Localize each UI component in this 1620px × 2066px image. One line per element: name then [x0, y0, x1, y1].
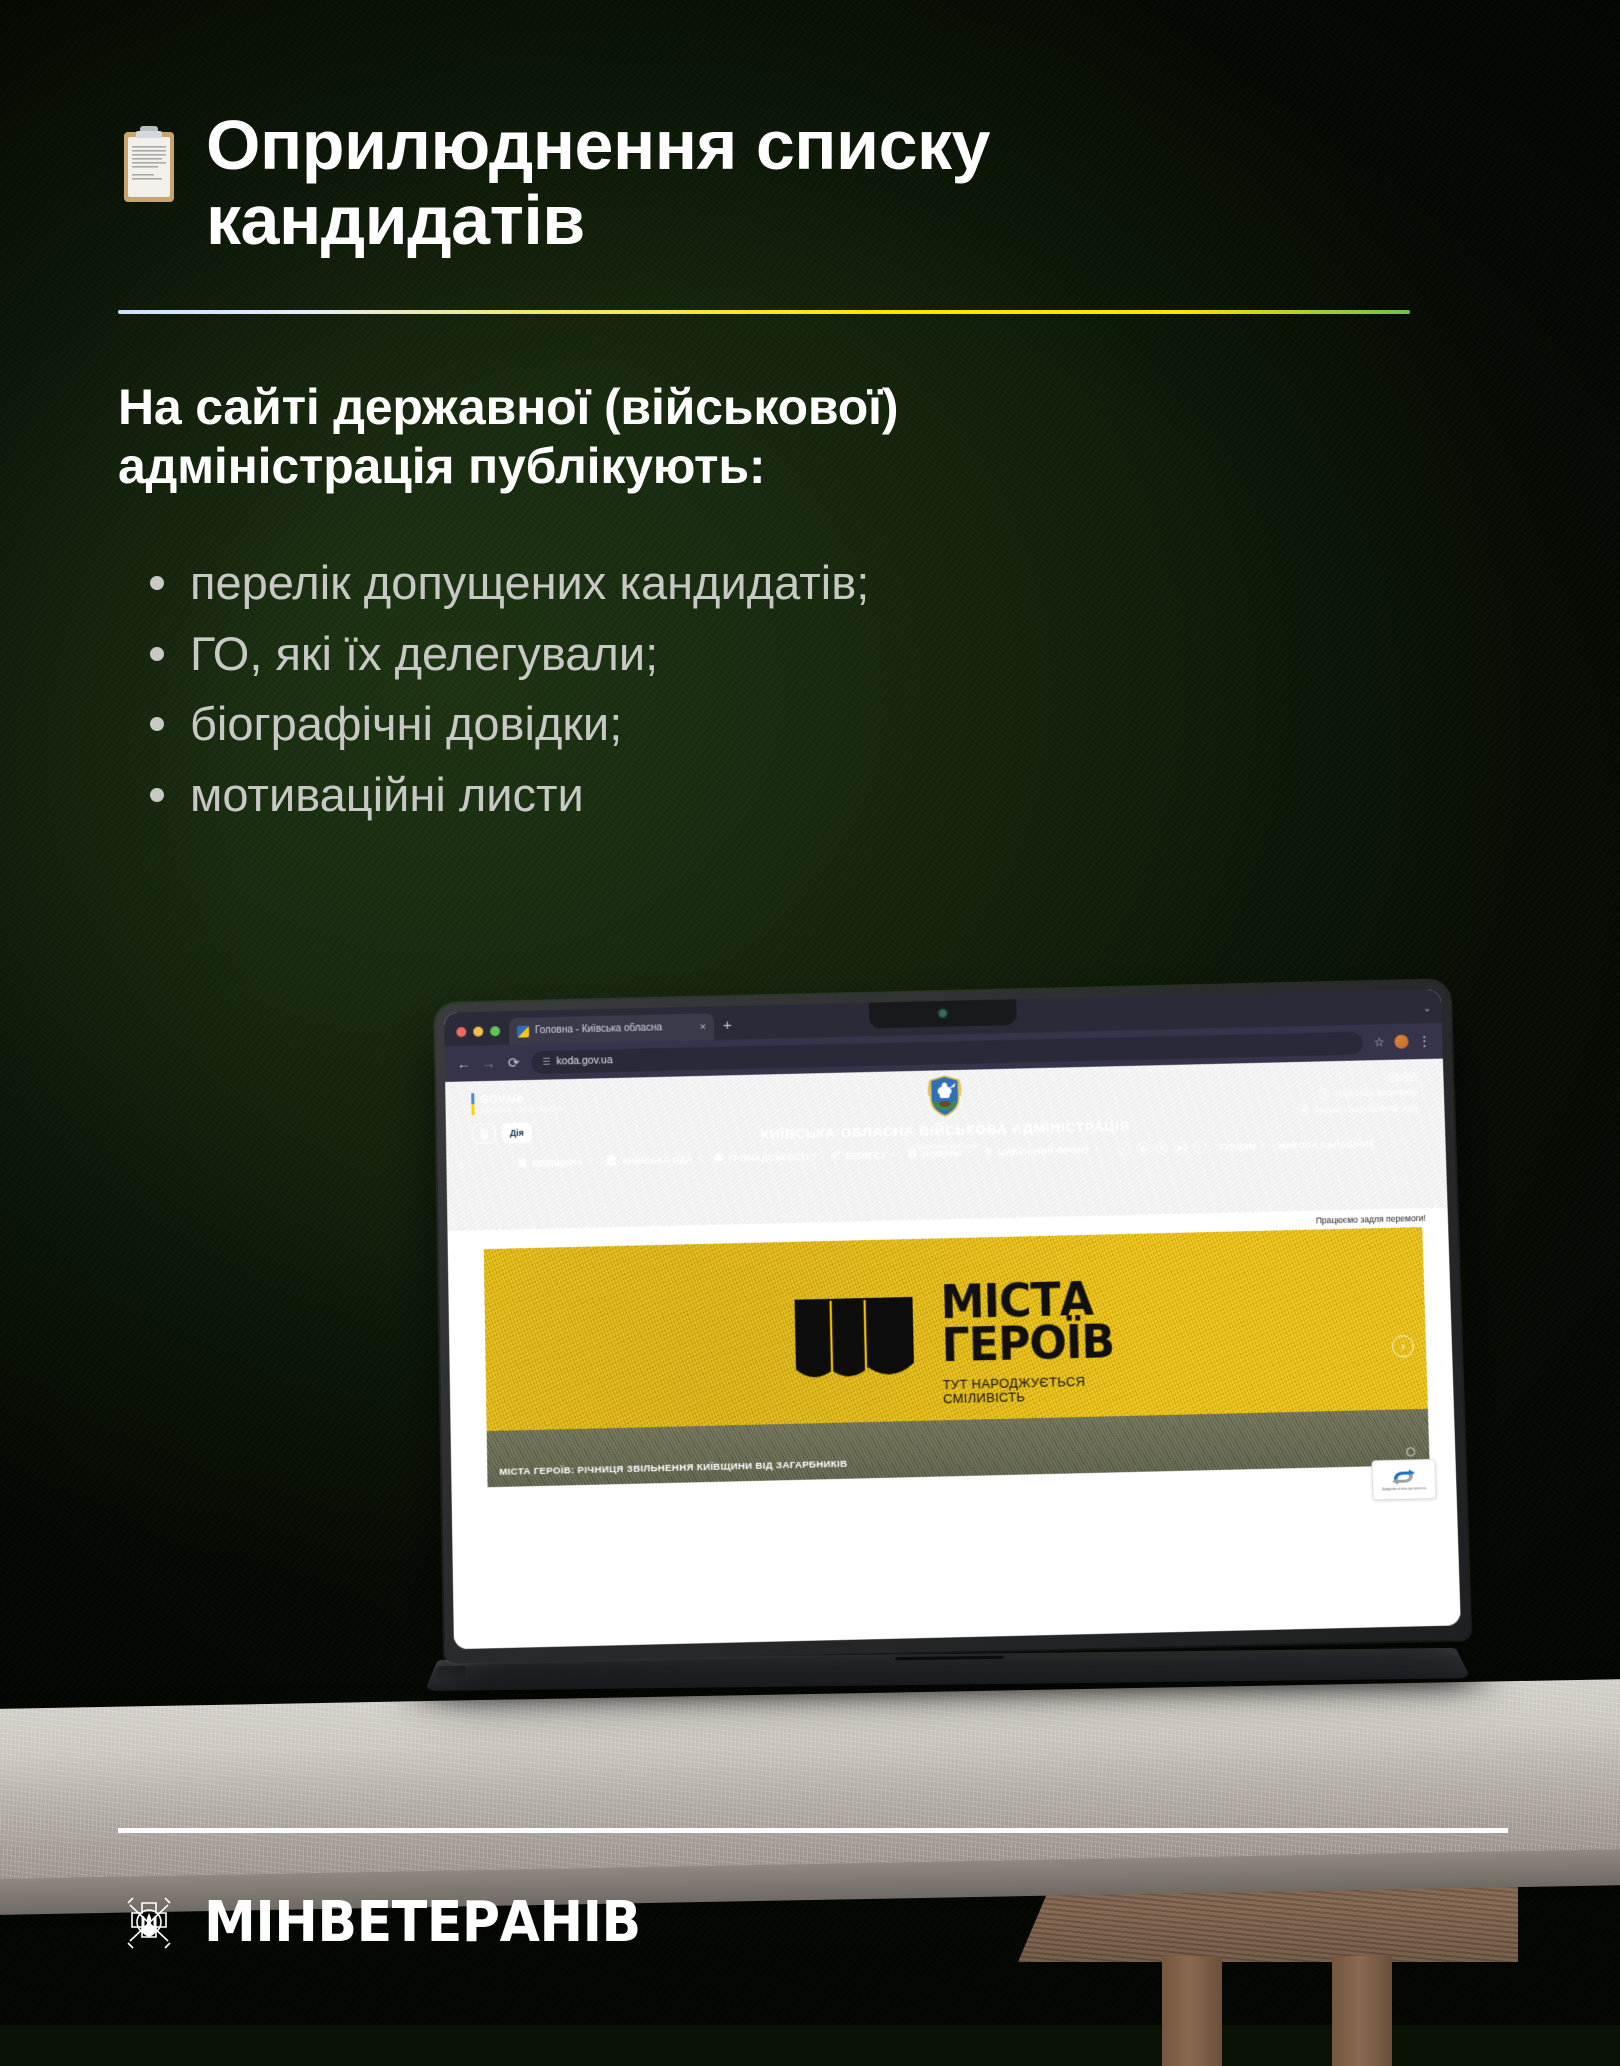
list-item-label: ГО, які їх делегували;: [190, 621, 658, 688]
site-header-top: GOV.UA Державні сайти України Дія: [471, 1071, 1419, 1144]
search-icon[interactable]: ⌕: [458, 1160, 464, 1173]
list-item: біографічні довідки;: [150, 689, 1620, 760]
chevron-down-icon: ▾: [968, 1149, 972, 1156]
hero-banner[interactable]: МІСТА ГЕРОЇВ ТУТ НАРОДЖУЄТЬСЯ СМІЛИВІСТЬ…: [484, 1227, 1430, 1487]
laptop: Головна - Київська обласна × + ⌄ ← → ⟳ ☰…: [440, 990, 1460, 1710]
govua-subtitle: Державні сайти України: [480, 1104, 563, 1115]
footer-divider: [118, 1828, 1508, 1833]
webcam-notch: [869, 999, 1017, 1028]
bullet-dot-icon: [150, 788, 164, 802]
chevron-down-icon[interactable]: ⌄: [1423, 1003, 1432, 1023]
chevron-down-icon: ▾: [891, 1151, 895, 1158]
snowflake-icon: ✳: [984, 1147, 993, 1157]
slide-footer: МІНВЕТЕРАНІВ: [0, 1828, 1620, 1959]
nav-item-mykola-kalashnyk[interactable]: МИКОЛА КАЛАШНИК: [1278, 1138, 1375, 1150]
nav-item-kyivska-oda[interactable]: 🏛 КИЇВСЬКА ОДА ▾: [604, 1154, 701, 1166]
clipboard-icon: [118, 124, 180, 206]
list-item: перелік допущених кандидатів;: [150, 548, 1620, 619]
youtube-icon[interactable]: ▶: [1174, 1141, 1187, 1154]
tab-favicon-icon: [517, 1025, 529, 1037]
close-window-button[interactable]: [456, 1027, 466, 1037]
people-icon: ☗: [714, 1153, 724, 1163]
send-appeal-label: Надіслати звернення: [1335, 1086, 1419, 1098]
nav-item-tsyvilnyi-front[interactable]: ✳ ЦИВІЛЬНИЙ ФРОНТ ▾: [984, 1145, 1098, 1158]
bullet-list: перелік допущених кандидатів; ГО, які їх…: [150, 548, 1620, 831]
address-value: koda.gov.ua: [556, 1054, 612, 1067]
eye-icon: ◉: [1298, 1104, 1309, 1115]
chevron-down-icon: ▾: [698, 1155, 702, 1162]
list-item-label: мотиваційні листи: [190, 762, 584, 829]
send-appeal-link[interactable]: ✉ Надіслати звернення: [1319, 1086, 1419, 1099]
desk-leg-right: [1332, 1956, 1392, 2066]
hero-area: МІСТА ГЕРОЇВ ТУТ НАРОДЖУЄТЬСЯ СМІЛИВІСТЬ…: [448, 1226, 1456, 1488]
chevron-down-icon: ▾: [814, 1153, 818, 1160]
back-button[interactable]: ←: [457, 1057, 471, 1071]
ua-flag-bar-icon: [471, 1093, 474, 1115]
nav-label: КИЇВСЬКА ОДА: [623, 1154, 693, 1166]
accessibility-label: Людям з порушенням зору: [1314, 1102, 1419, 1114]
slide-content: Оприлюднення списку кандидатів На сайті …: [0, 0, 1620, 831]
ministry-of-veterans-affairs-emblem-icon: [118, 1885, 180, 1959]
window-controls[interactable]: [456, 1026, 500, 1046]
envelope-icon: ✉: [1319, 1088, 1330, 1099]
hero-tagline-line2: СМІЛИВІСТЬ: [943, 1388, 1123, 1407]
forward-button[interactable]: →: [482, 1056, 496, 1070]
diia-badge[interactable]: Дія: [502, 1123, 532, 1144]
three-shields-icon: [789, 1293, 923, 1400]
handshake-icon: ☍: [830, 1151, 841, 1161]
bullet-dot-icon: [150, 647, 164, 661]
social-links: f ◉ ➤ ▶ f: [1117, 1141, 1206, 1156]
nav-label: БІЗНЕСУ: [846, 1150, 887, 1161]
website-viewport: GOV.UA Державні сайти України Дія: [445, 1059, 1461, 1650]
list-item-label: перелік допущених кандидатів;: [190, 550, 869, 617]
govua-block[interactable]: GOV.UA Державні сайти України Дія: [471, 1091, 563, 1144]
tab-title: Головна - Київська обласна: [535, 1022, 694, 1037]
list-item-label: біографічні довідки;: [190, 691, 622, 758]
news-icon: ▤: [908, 1149, 918, 1159]
language-switch-english[interactable]: English: [1388, 1071, 1418, 1082]
laptop-screen: Головна - Київська обласна × + ⌄ ← → ⟳ ☰…: [444, 989, 1461, 1649]
browser-actions: ☆ ⋮: [1374, 1034, 1431, 1049]
site-header-links: English ✉ Надіслати звернення ◉ Людям з …: [1297, 1071, 1419, 1115]
nav-label: КИЇВЩИНА: [532, 1157, 583, 1168]
nav-item-hromadskosti[interactable]: ☗ ГРОМАДСЬКОСТІ ▾: [714, 1151, 818, 1163]
maximize-window-button[interactable]: [490, 1026, 500, 1036]
bookmark-icon[interactable]: ☆: [1374, 1035, 1385, 1049]
govua-badges: Дія: [472, 1122, 564, 1144]
hero-text: МІСТА ГЕРОЇВ ТУТ НАРОДЖУЄТЬСЯ СМІЛИВІСТЬ: [940, 1277, 1123, 1407]
brand-name: МІНВЕТЕРАНІВ: [204, 1890, 641, 1955]
chevron-down-icon: ▾: [588, 1158, 592, 1165]
list-item: мотиваційні листи: [150, 760, 1620, 831]
facebook-icon-2[interactable]: f: [1193, 1141, 1206, 1154]
facebook-icon[interactable]: f: [1117, 1142, 1130, 1155]
new-tab-button[interactable]: +: [723, 1018, 732, 1040]
title-row: Оприлюднення списку кандидатів: [0, 0, 1620, 258]
building-icon: 🏛: [604, 1156, 617, 1166]
city-icon: ▦: [517, 1158, 527, 1168]
tab-close-icon[interactable]: ×: [700, 1021, 707, 1033]
nav-label: ГРОМАДСЬКОСТІ: [728, 1151, 809, 1163]
tune-icon[interactable]: ☰: [542, 1056, 549, 1067]
laptop-foot: [436, 1666, 466, 1679]
laptop-base-lip: [895, 1656, 1004, 1660]
chevron-down-icon: ▾: [1095, 1146, 1099, 1153]
section-subtitle: На сайті державної (військової) адмініст…: [118, 378, 1248, 496]
nav-item-novyny[interactable]: ▤ НОВИНИ ▾: [908, 1148, 972, 1159]
webcam-icon: [939, 1010, 946, 1017]
nav-item-turyzm[interactable]: ТУРИЗМ ▾: [1219, 1141, 1265, 1152]
trident-icon[interactable]: [472, 1123, 496, 1143]
browser-tab[interactable]: Головна - Київська обласна ×: [509, 1013, 714, 1045]
minimize-window-button[interactable]: [473, 1027, 483, 1037]
nav-item-biznesu[interactable]: ☍ БІЗНЕСУ ▾: [830, 1149, 895, 1160]
title-divider: [118, 310, 1410, 314]
reload-button[interactable]: ⟳: [507, 1055, 521, 1069]
chevron-down-icon: ▾: [1262, 1142, 1266, 1149]
nav-label: НОВИНИ: [923, 1148, 964, 1159]
certificate-label: Цифрова освіта доступність: [1382, 1486, 1427, 1491]
hero-word-2: ГЕРОЇВ: [941, 1320, 1115, 1367]
site-navigation: ⌕ ▦ КИЇВЩИНА ▾ 🏛 КИЇВСЬКА ОДА ▾ ☗: [472, 1136, 1420, 1175]
page-title: Оприлюднення списку кандидатів: [206, 108, 1206, 258]
instagram-icon[interactable]: ◉: [1136, 1142, 1149, 1155]
site-header: GOV.UA Державні сайти України Дія: [445, 1059, 1447, 1231]
list-item: ГО, які їх делегували;: [150, 619, 1620, 690]
hero-tagline: ТУТ НАРОДЖУЄТЬСЯ СМІЛИВІСТЬ: [942, 1374, 1123, 1407]
desk-leg-left: [1162, 1956, 1222, 2066]
avatar[interactable]: [1394, 1035, 1408, 1049]
nav-item-kyivshchyna[interactable]: ▦ КИЇВЩИНА ▾: [517, 1156, 591, 1168]
nav-label: МИКОЛА КАЛАШНИК: [1278, 1138, 1375, 1150]
telegram-icon[interactable]: ➤: [1155, 1141, 1168, 1154]
nav-label: ЦИВІЛЬНИЙ ФРОНТ: [998, 1145, 1090, 1157]
laptop-lid: Головна - Київська обласна × + ⌄ ← → ⟳ ☰…: [435, 980, 1470, 1663]
menu-icon[interactable]: ⋮: [1418, 1034, 1430, 1048]
accessibility-link[interactable]: ◉ Людям з порушенням зору: [1298, 1102, 1419, 1116]
nav-label: ТУРИЗМ: [1219, 1141, 1257, 1152]
bullet-dot-icon: [150, 576, 164, 590]
bullet-dot-icon: [150, 717, 164, 731]
brand-lockup: МІНВЕТЕРАНІВ: [118, 1885, 1620, 1959]
recycle-arrows-icon: [1391, 1468, 1418, 1485]
